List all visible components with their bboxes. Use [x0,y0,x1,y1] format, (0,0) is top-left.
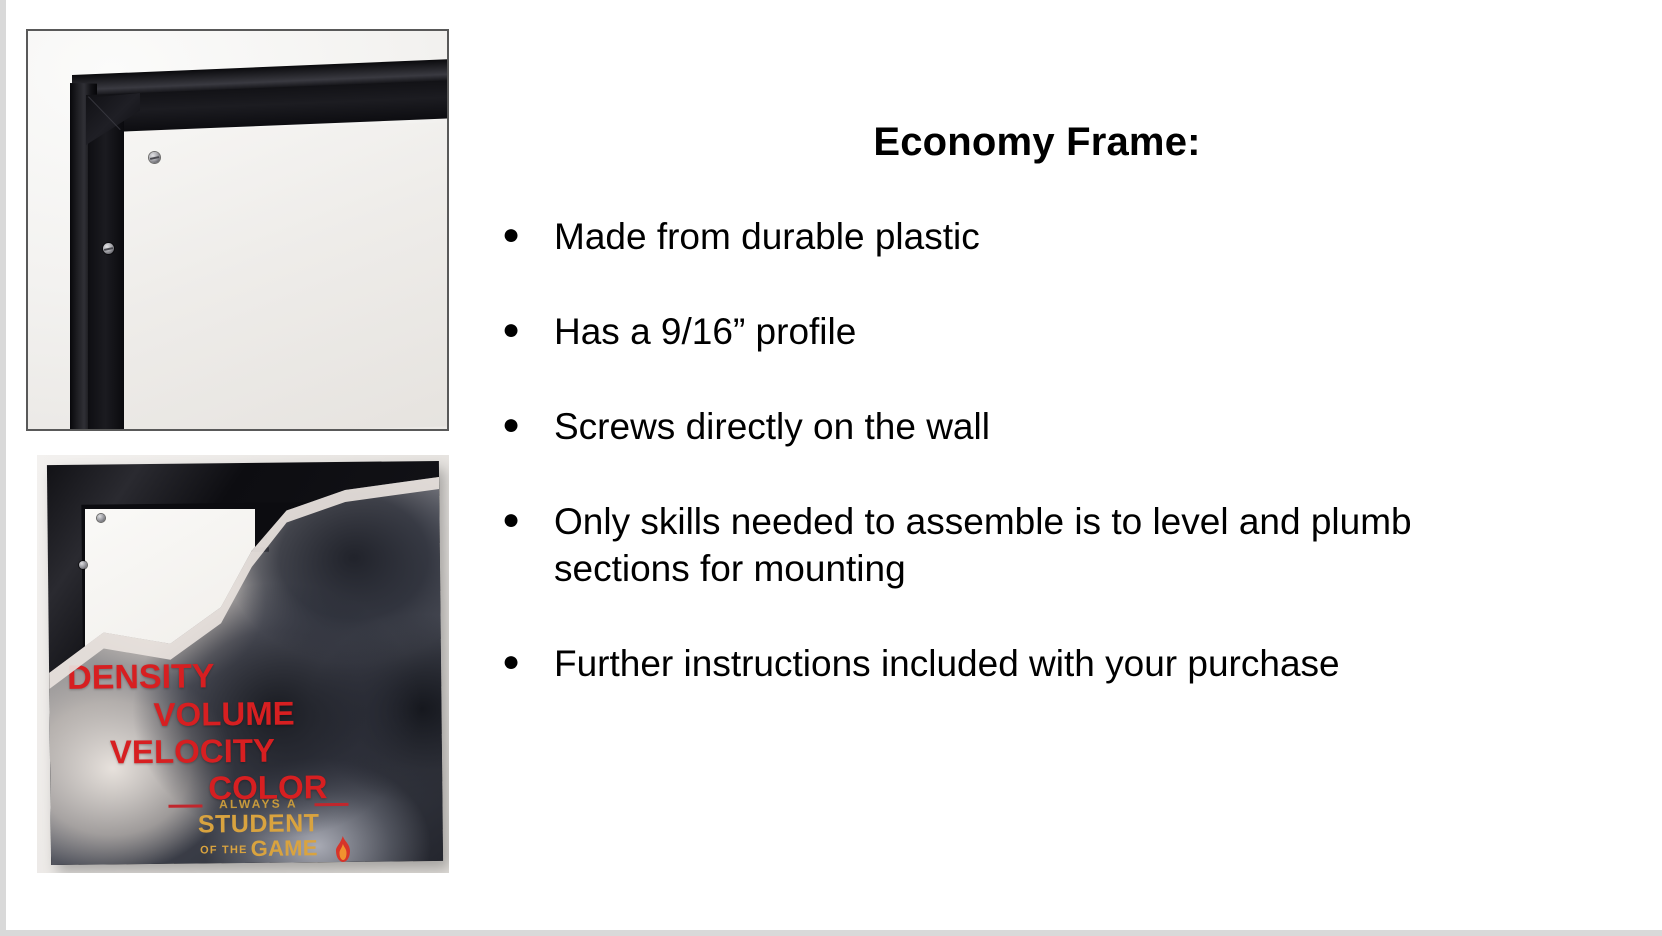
frame-left-face [88,103,124,431]
logo-rule-left [168,804,202,807]
screw-icon [149,152,160,163]
bullet-point-icon: ● [492,213,554,257]
frame-inner-panel [124,122,449,431]
content-column: Economy Frame: ● Made from durable plast… [492,120,1622,687]
poster-word-velocity: VELOCITY [50,732,442,769]
poster-word-stack: DENSITY VOLUME VELOCITY COLOR [49,657,442,806]
frame-corner-photo [26,29,449,431]
screw-icon [97,514,105,522]
logo-line-always-a: ALWAYS A [168,796,348,812]
page-title: Economy Frame: [492,120,1622,165]
logo-rule-right [314,803,348,806]
list-item-label: Only skills needed to assemble is to lev… [554,498,1514,592]
slide: E DENSITY VOLUME VELOCITY COLOR ALWAYS A… [0,0,1662,936]
screw-icon [79,561,87,569]
list-item: ● Made from durable plastic [492,213,1622,260]
list-item: ● Only skills needed to assemble is to l… [492,498,1622,592]
screw-icon [103,243,114,254]
logo-of-the-text: OF THE [200,844,248,856]
list-item-label: Screws directly on the wall [554,403,1514,450]
poster-word-volume: VOLUME [49,695,441,732]
logo-always-a-text: ALWAYS A [219,796,298,811]
list-item-label: Made from durable plastic [554,213,1514,260]
logo-line-student: STUDENT [169,811,349,838]
image-column: E DENSITY VOLUME VELOCITY COLOR ALWAYS A… [26,29,476,874]
list-item: ● Further instructions included with you… [492,640,1622,687]
bullet-point-icon: ● [492,308,554,352]
logo-game-text: GAME [250,835,317,861]
slide-left-edge [0,0,6,930]
bullet-list: ● Made from durable plastic ● Has a 9/16… [492,213,1622,687]
list-item-label: Further instructions included with your … [554,640,1514,687]
bullet-point-icon: ● [492,640,554,684]
list-item: ● Screws directly on the wall [492,403,1622,450]
bullet-point-icon: ● [492,403,554,447]
list-item: ● Has a 9/16” profile [492,308,1622,355]
list-item-label: Has a 9/16” profile [554,308,1514,355]
flame-icon [333,836,353,862]
slide-bottom-edge [0,930,1662,936]
logo-line-game: OF THEGAME [169,837,349,861]
poster-word-density: DENSITY [49,657,441,695]
bullet-point-icon: ● [492,498,554,542]
student-of-the-game-logo: ALWAYS A STUDENT OF THEGAME [168,796,349,865]
graphic-peel-photo: E DENSITY VOLUME VELOCITY COLOR ALWAYS A… [37,455,449,873]
